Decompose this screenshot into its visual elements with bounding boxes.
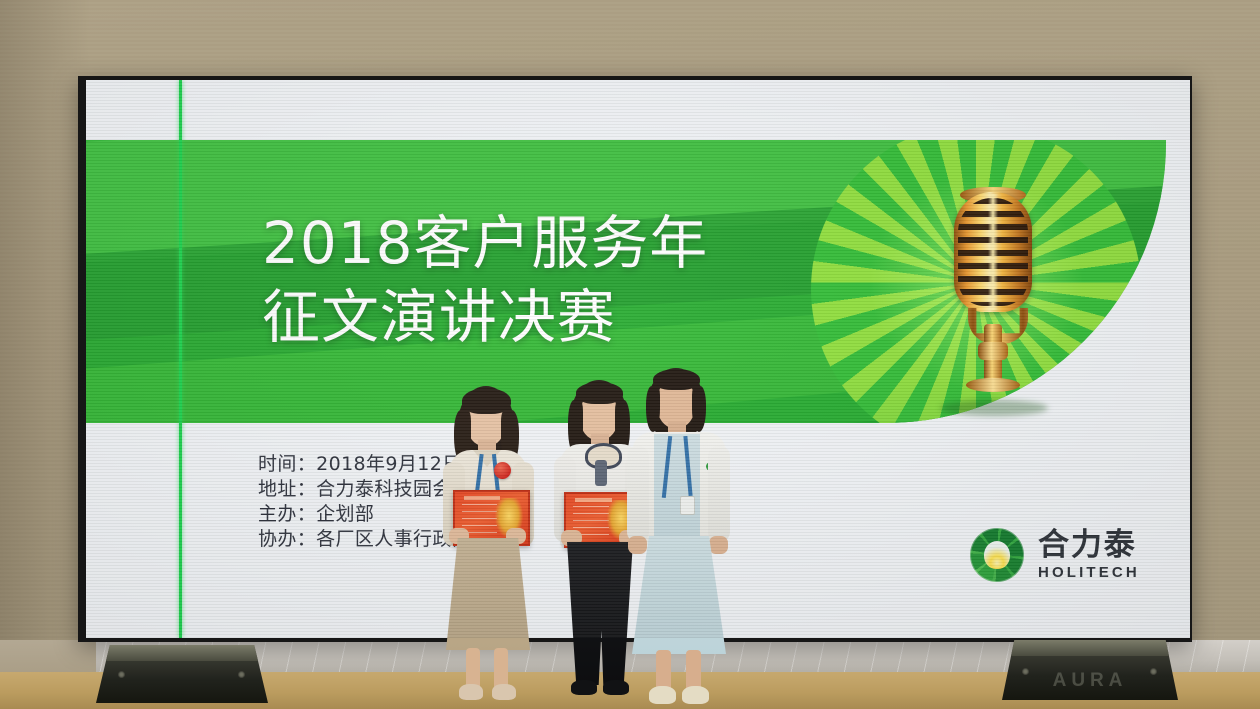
necktie bbox=[595, 460, 607, 486]
award-badge bbox=[494, 462, 511, 479]
arm-right bbox=[708, 446, 730, 542]
shoe-right bbox=[492, 684, 516, 700]
sandal-right bbox=[682, 686, 709, 704]
staff-id-badge bbox=[680, 496, 695, 515]
person-left bbox=[432, 386, 542, 709]
stage-photo: 2018客户服务年 征文演讲决赛 时间：2018年9月12日 地址：合力泰科技园… bbox=[0, 0, 1260, 709]
shoe-left bbox=[459, 684, 483, 700]
arm-left bbox=[627, 446, 649, 542]
hand-left bbox=[628, 536, 647, 554]
sandal-left bbox=[649, 686, 676, 704]
dress-skirt bbox=[632, 536, 726, 654]
person-right bbox=[620, 368, 738, 709]
hand-right bbox=[709, 536, 728, 554]
hair-side-left bbox=[646, 386, 660, 432]
skirt bbox=[446, 538, 530, 650]
dress-top bbox=[654, 434, 700, 540]
shoe-left bbox=[571, 680, 597, 695]
hair-side-right bbox=[692, 386, 706, 432]
award-recipients-group bbox=[0, 0, 1260, 709]
